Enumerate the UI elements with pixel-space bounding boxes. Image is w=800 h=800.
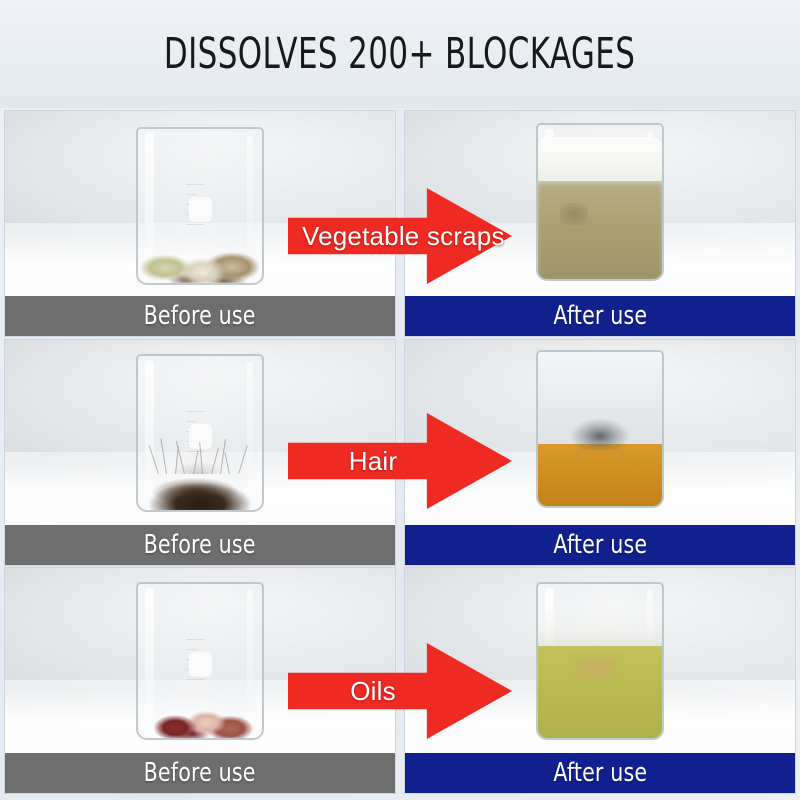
beaker-contents-olive-liquid <box>538 181 662 279</box>
beaker-spout-icon <box>653 582 664 596</box>
beaker-contents-vegetable-scraps <box>138 243 262 283</box>
beaker-contents-hair-strands <box>144 436 256 474</box>
caption-label-after: After use <box>553 530 647 560</box>
header-banner: DISSOLVES 200+ BLOCKAGES <box>0 0 800 108</box>
beaker-contents-yellow-green-liquid <box>538 646 662 738</box>
comparison-grid: Before use After use <box>0 108 800 800</box>
beaker-spout-icon <box>253 354 264 368</box>
beaker-after-vegetable-scraps <box>536 123 664 281</box>
photo-stage <box>5 340 395 527</box>
page-title: DISSOLVES 200+ BLOCKAGES <box>164 29 635 79</box>
beaker-spout-icon <box>253 127 264 141</box>
caption-band-before: Before use <box>5 753 395 793</box>
caption-band-after: After use <box>405 753 795 793</box>
beaker-spout-icon <box>253 582 264 596</box>
caption-band-before: Before use <box>5 525 395 565</box>
beaker-after-hair <box>536 350 664 508</box>
beaker-contents-amber-liquid <box>538 444 662 506</box>
after-panel-oils: After use <box>404 567 796 794</box>
beaker-spout-icon <box>653 123 664 137</box>
beaker-after-oils <box>536 582 664 740</box>
photo-stage <box>5 568 395 755</box>
caption-label-before: Before use <box>144 530 256 560</box>
beaker-before-oils <box>136 582 264 740</box>
comparison-row-hair: Before use After use <box>0 339 800 566</box>
beaker-contents-foam <box>538 137 662 181</box>
beaker-label-sticker <box>189 197 212 222</box>
beaker-contents-dissolving-particles <box>567 404 633 450</box>
before-panel-vegetable-scraps: Before use <box>4 110 396 337</box>
before-panel-oils: Before use <box>4 567 396 794</box>
beaker-contents-meat-fat <box>138 704 262 738</box>
caption-band-after: After use <box>405 296 795 336</box>
caption-label-after: After use <box>553 301 647 331</box>
caption-band-before: Before use <box>5 296 395 336</box>
before-panel-hair: Before use <box>4 339 396 566</box>
comparison-row-vegetable-scraps: Before use After use <box>0 110 800 337</box>
photo-stage <box>405 111 795 298</box>
beaker-contents-haze <box>538 606 662 646</box>
caption-label-after: After use <box>553 758 647 788</box>
after-panel-vegetable-scraps: After use <box>404 110 796 337</box>
caption-label-before: Before use <box>144 758 256 788</box>
comparison-row-oils: Before use After use <box>0 567 800 794</box>
photo-stage <box>405 340 795 527</box>
beaker-before-hair <box>136 354 264 512</box>
photo-stage <box>405 568 795 755</box>
caption-band-after: After use <box>405 525 795 565</box>
beaker-label-sticker <box>189 652 212 677</box>
photo-stage <box>5 111 395 298</box>
caption-label-before: Before use <box>144 301 256 331</box>
after-panel-hair: After use <box>404 339 796 566</box>
beaker-before-vegetable-scraps <box>136 127 264 285</box>
